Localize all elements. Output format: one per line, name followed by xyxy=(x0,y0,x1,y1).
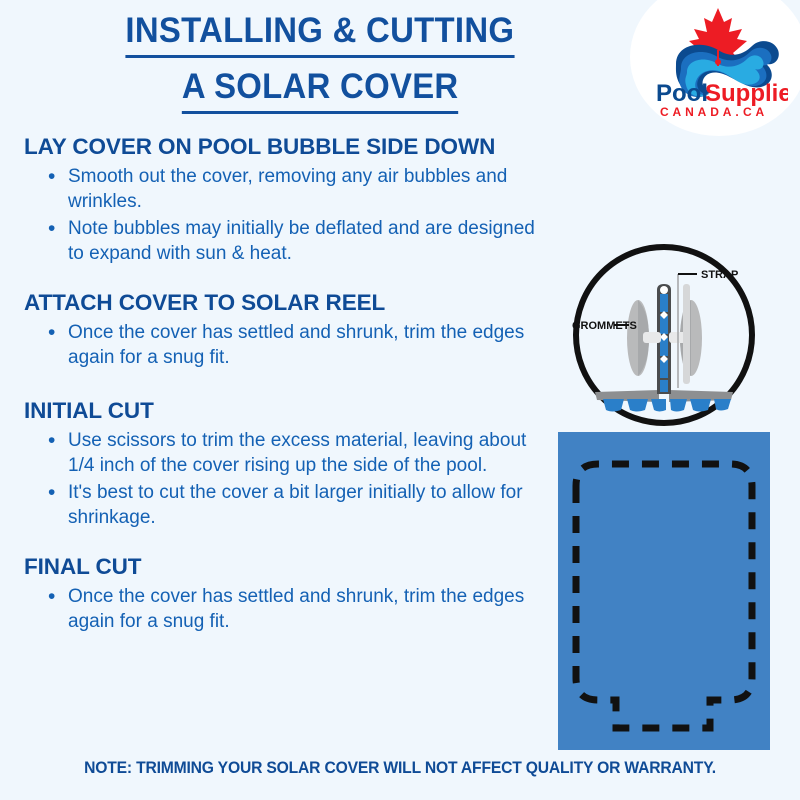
strap-bar xyxy=(683,284,690,384)
page-title: INSTALLING & CUTTING A SOLAR COVER xyxy=(0,8,640,114)
section-heading: ATTACH COVER TO SOLAR REEL xyxy=(24,289,540,316)
section-bullets: Once the cover has settled and shrunk, t… xyxy=(24,320,540,371)
list-item: It's best to cut the cover a bit larger … xyxy=(48,480,540,531)
grommets-label: GROMMETS xyxy=(572,320,637,332)
section-heading: INITIAL CUT xyxy=(24,397,540,424)
cross-section-artwork: STRAP GROMMETS xyxy=(571,242,757,428)
poolsupplies-canada-logo: Pool Supplies C A N A D A . C A xyxy=(648,6,788,118)
section-final-cut: FINAL CUT Once the cover has settled and… xyxy=(24,553,540,635)
section-heading: LAY COVER ON POOL BUBBLE SIDE DOWN xyxy=(24,133,540,160)
logo-artwork: Pool Supplies C A N A D A . C A xyxy=(648,6,788,118)
cover-fold-bubbles xyxy=(660,286,668,392)
grommet-strap-cross-section-diagram: STRAP GROMMETS xyxy=(571,242,757,428)
section-heading: FINAL CUT xyxy=(24,553,540,580)
logo-word-domain: C A N A D A . C A xyxy=(660,105,765,118)
pool-outline-artwork xyxy=(558,432,770,750)
logo-badge: Pool Supplies C A N A D A . C A xyxy=(630,0,800,136)
list-item: Note bubbles may initially be deflated a… xyxy=(48,216,540,267)
section-initial-cut: INITIAL CUT Use scissors to trim the exc… xyxy=(24,397,540,531)
section-attach-cover: ATTACH COVER TO SOLAR REEL Once the cove… xyxy=(24,289,540,371)
list-item: Once the cover has settled and shrunk, t… xyxy=(48,320,540,371)
title-line-2: A SOLAR COVER xyxy=(182,64,459,114)
title-line-1: INSTALLING & CUTTING xyxy=(126,8,515,58)
section-bullets: Use scissors to trim the excess material… xyxy=(24,428,540,531)
logo-word-pool: Pool xyxy=(656,80,708,107)
strap-label: STRAP xyxy=(701,269,738,281)
instructions-list: LAY COVER ON POOL BUBBLE SIDE DOWN Smoot… xyxy=(24,133,540,638)
pool-cutting-outline-diagram xyxy=(558,432,770,750)
section-bullets: Smooth out the cover, removing any air b… xyxy=(24,164,540,267)
logo-word-supplies: Supplies xyxy=(705,80,788,107)
section-bullets: Once the cover has settled and shrunk, t… xyxy=(24,584,540,635)
section-lay-cover: LAY COVER ON POOL BUBBLE SIDE DOWN Smoot… xyxy=(24,133,540,267)
list-item: Use scissors to trim the excess material… xyxy=(48,428,540,479)
list-item: Once the cover has settled and shrunk, t… xyxy=(48,584,540,635)
list-item: Smooth out the cover, removing any air b… xyxy=(48,164,540,215)
footer-note: NOTE: TRIMMING YOUR SOLAR COVER WILL NOT… xyxy=(20,759,780,778)
infographic-page: Pool Supplies C A N A D A . C A INSTALLI… xyxy=(0,0,800,800)
